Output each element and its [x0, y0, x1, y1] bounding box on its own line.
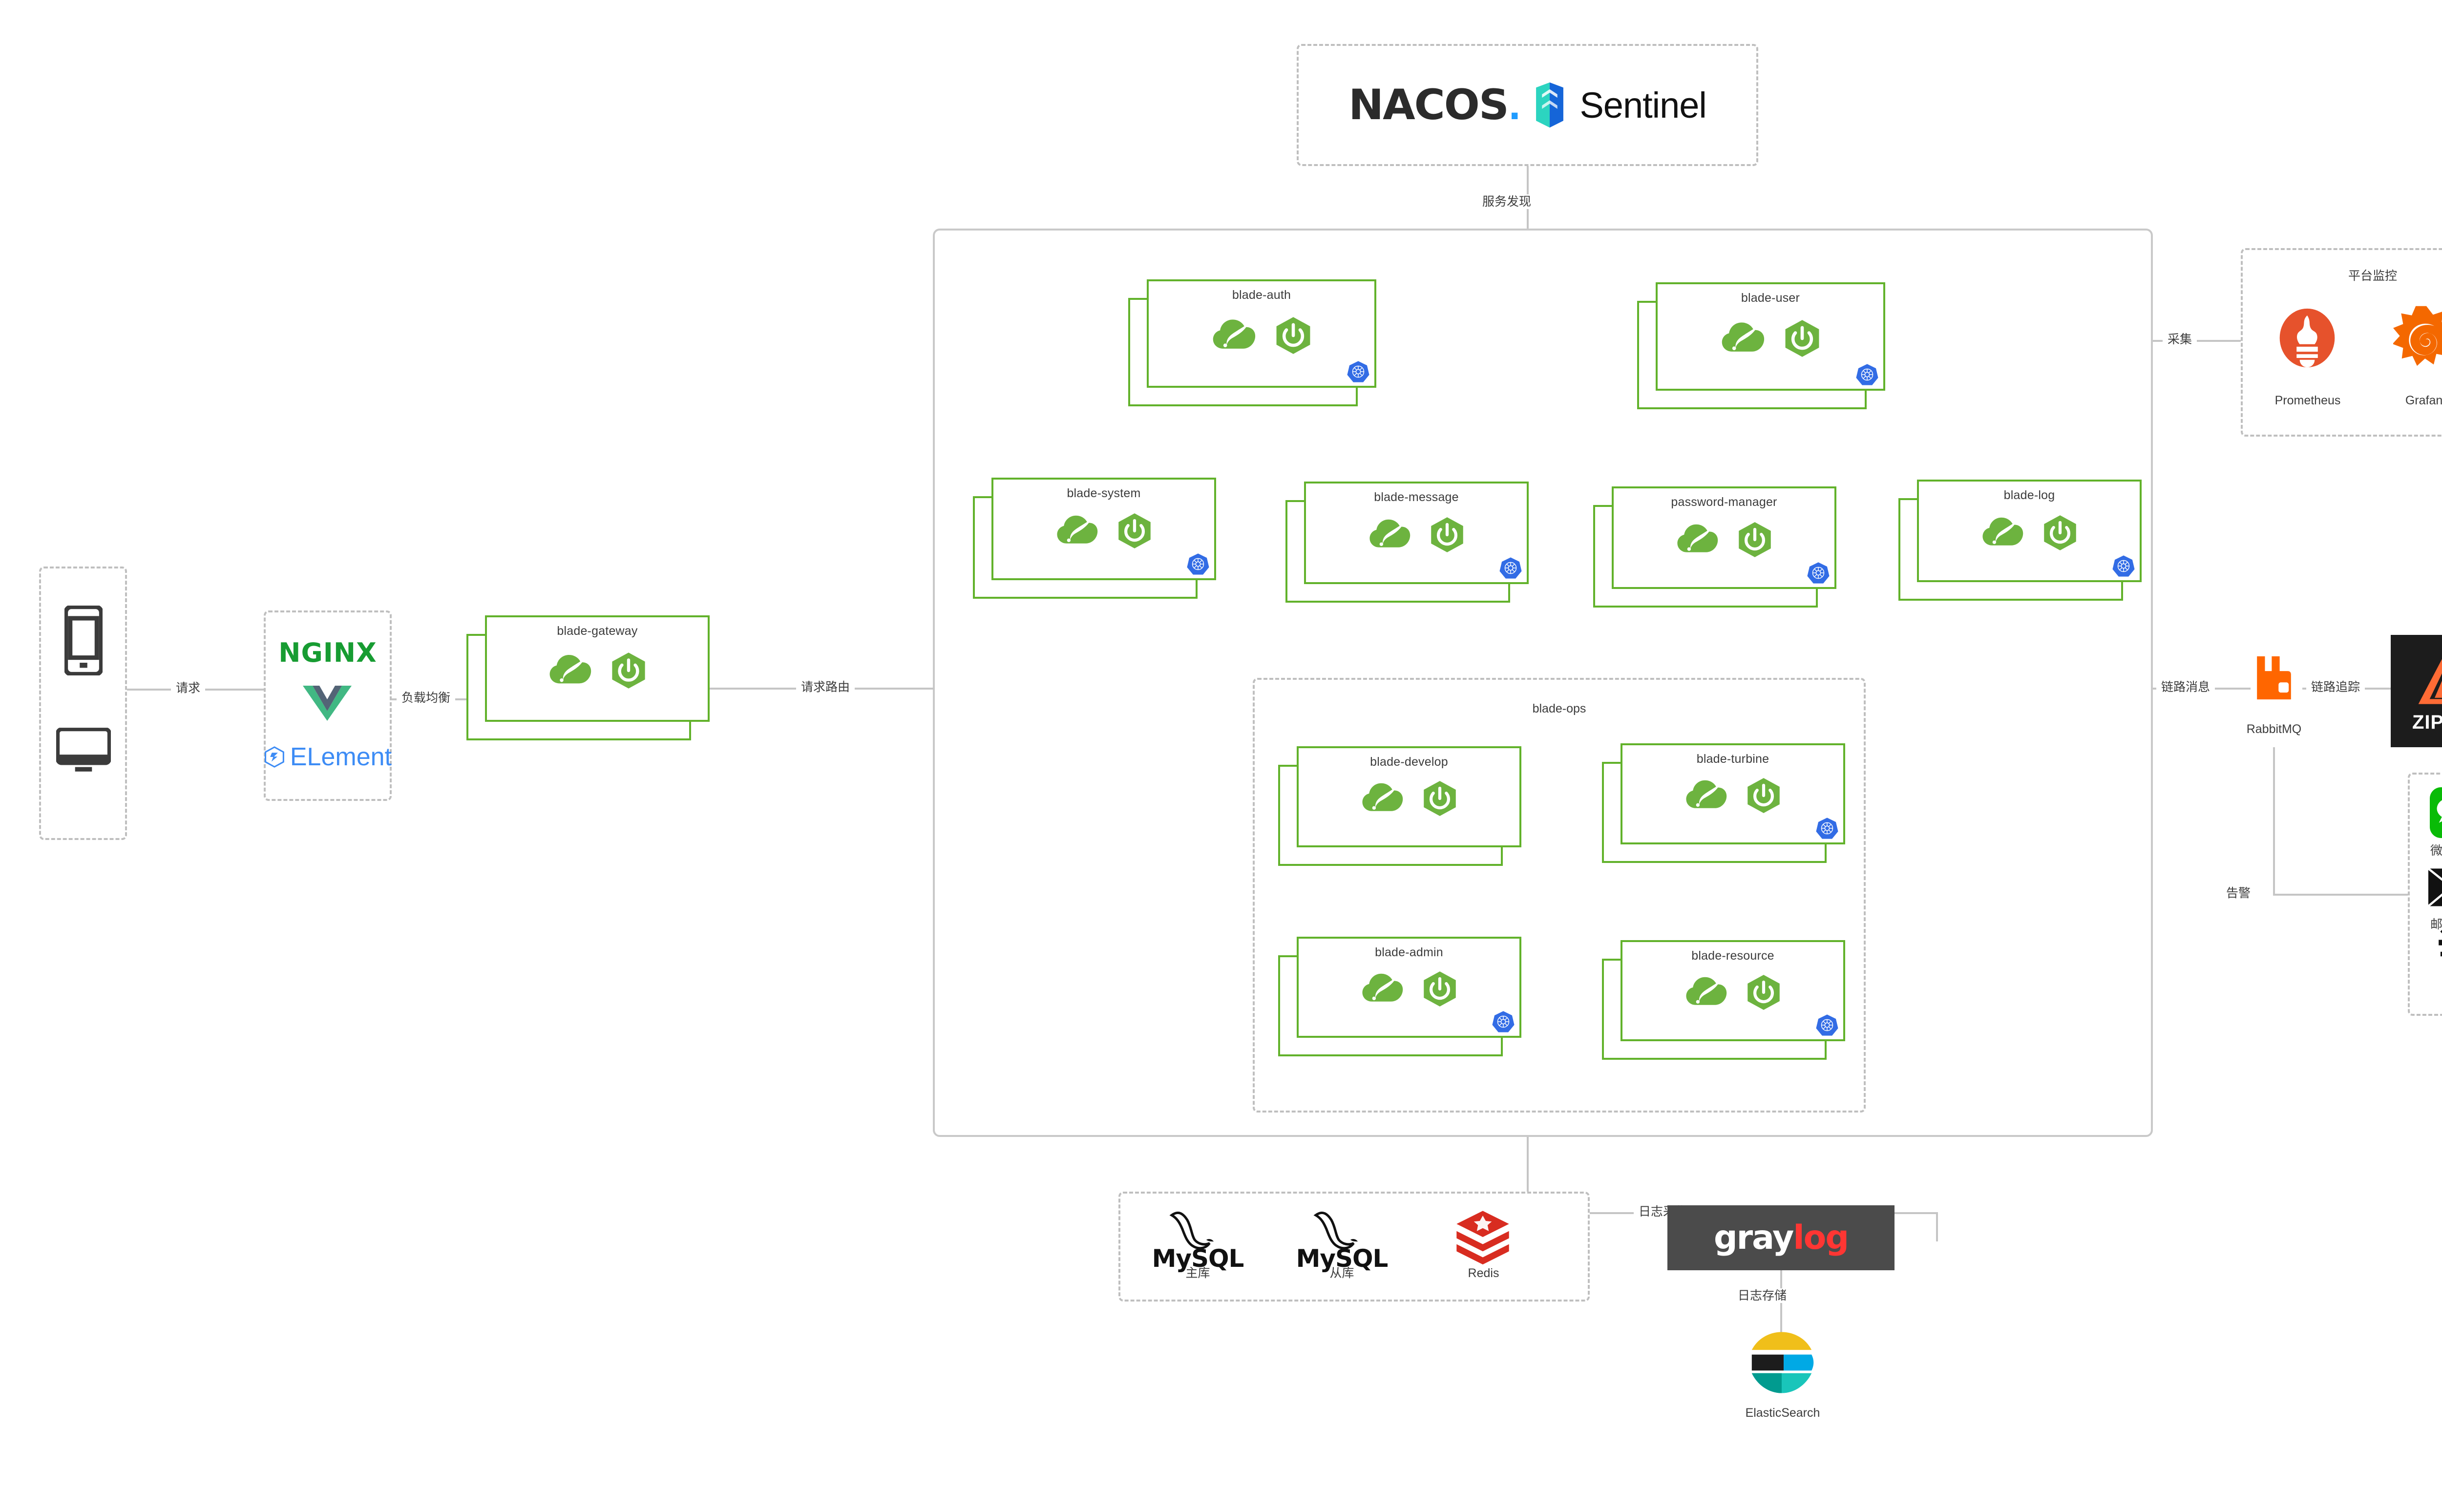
kubernetes-icon [2112, 555, 2135, 577]
service-card-blade-admin[interactable]: blade-admin [1297, 937, 1521, 1038]
spring-boot-hexagon-icon [1745, 777, 1783, 815]
service-card-blade-system[interactable]: blade-system [991, 478, 1216, 580]
element-ui-row: ELement [264, 742, 392, 772]
grafana-label: Grafana [2366, 393, 2442, 408]
service-card-password-manager[interactable]: password-manager [1612, 486, 1836, 589]
spring-cloud-leaf-icon [1674, 517, 1719, 562]
kubernetes-icon [1187, 553, 1209, 575]
mysql-master[interactable]: MySQL [1140, 1205, 1255, 1273]
spring-boot-hexagon-icon [1428, 516, 1466, 554]
spring-cloud-leaf-icon [1359, 776, 1404, 821]
nacos-label: NACOS [1348, 81, 1508, 129]
architecture-diagram-canvas: NACOS. Sentinel 服务发现 blade-auth blade-us… [0, 0, 2442, 1512]
card-front: blade-user [1656, 282, 1885, 391]
card-front: blade-develop [1297, 746, 1521, 847]
graylog-logo: graylog [1714, 1218, 1848, 1257]
edge-label-alarm: 告警 [2221, 886, 2255, 901]
spring-boot-hexagon-icon [2041, 514, 2079, 552]
card-front: blade-auth [1147, 279, 1376, 388]
prometheus-torch-icon [2276, 307, 2338, 369]
edge-label-link-trace: 链路追踪 [2306, 680, 2365, 694]
edge-label-log-storage: 日志存储 [1733, 1288, 1791, 1303]
spring-cloud-leaf-icon [1359, 966, 1404, 1011]
platform-monitoring-label: 平台监控 [2241, 266, 2442, 284]
card-front: password-manager [1612, 486, 1836, 589]
service-title: blade-resource [1622, 949, 1843, 963]
service-title: blade-auth [1149, 288, 1374, 302]
service-card-blade-turbine[interactable]: blade-turbine [1621, 743, 1845, 844]
card-front: blade-log [1917, 480, 2142, 582]
envelope-icon [2428, 868, 2442, 906]
spring-cloud-leaf-icon [1367, 512, 1411, 557]
edge-label-service-discovery: 服务发现 [1477, 194, 1536, 209]
kubernetes-icon [1816, 817, 1838, 840]
spring-cloud-leaf-icon [1210, 312, 1257, 359]
redis-label: Redis [1426, 1266, 1541, 1281]
service-icons [1299, 776, 1519, 821]
edge-label-load-balance: 负载均衡 [397, 691, 455, 705]
service-title: blade-log [1919, 488, 2140, 503]
element-label: ELement [290, 742, 392, 772]
elasticsearch-logo-icon [1748, 1329, 1815, 1396]
nginx-label: NGINX [264, 637, 392, 668]
service-title: blade-system [993, 486, 1214, 501]
desktop-monitor-icon [56, 728, 111, 773]
mysql-slave[interactable]: MySQL [1284, 1205, 1399, 1273]
service-icons [993, 508, 1214, 553]
service-icons [1622, 970, 1843, 1015]
rabbitmq-label: RabbitMQ [2217, 722, 2331, 736]
service-card-blade-resource[interactable]: blade-resource [1621, 940, 1845, 1041]
spring-boot-hexagon-icon [1736, 521, 1774, 559]
graylog-card[interactable]: graylog [1667, 1205, 1895, 1270]
wechat-bubbles-icon [2430, 787, 2442, 838]
mobile-phone-icon [64, 606, 103, 675]
spring-boot-hexagon-icon [1273, 315, 1313, 356]
nacos-logo: NACOS. [1348, 81, 1520, 129]
spring-boot-hexagon-icon [1782, 318, 1822, 358]
spring-cloud-leaf-icon [1054, 508, 1099, 553]
spring-cloud-leaf-icon [1719, 315, 1766, 362]
card-front: blade-resource [1621, 940, 1845, 1041]
service-title: blade-admin [1299, 945, 1519, 960]
service-icons [487, 648, 708, 693]
edge-label-request: 请求 [171, 681, 205, 695]
kubernetes-icon [1856, 363, 1878, 386]
kubernetes-icon [1499, 557, 1522, 579]
nacos-dot: . [1508, 87, 1520, 127]
service-title: blade-gateway [487, 624, 708, 638]
kubernetes-icon [1807, 562, 1830, 584]
service-card-blade-user[interactable]: blade-user [1656, 282, 1885, 391]
card-front: blade-system [991, 478, 1216, 580]
sentinel-shield-icon [1533, 82, 1567, 128]
spring-boot-hexagon-icon [609, 651, 648, 690]
mysql-master-label: 主库 [1140, 1266, 1255, 1281]
spring-boot-hexagon-icon [1421, 779, 1459, 818]
service-card-blade-auth[interactable]: blade-auth [1147, 279, 1376, 388]
zipkin-arrow-icon [2415, 649, 2442, 712]
mysql-slave-label: 从库 [1284, 1266, 1399, 1281]
edge-label-collect: 采集 [2163, 332, 2197, 347]
service-title: blade-turbine [1622, 752, 1843, 766]
service-icons [1149, 312, 1374, 359]
card-front: blade-message [1304, 482, 1529, 584]
kubernetes-icon [1492, 1010, 1515, 1033]
service-icons [1658, 315, 1883, 362]
spring-boot-hexagon-icon [1421, 970, 1459, 1008]
spring-cloud-leaf-icon [1683, 970, 1728, 1015]
service-card-blade-log[interactable]: blade-log [1917, 480, 2142, 582]
registry-group: NACOS. Sentinel [1297, 44, 1758, 166]
vue-logo-icon [303, 684, 352, 723]
connector-alarm-horizontal [2273, 894, 2410, 896]
element-ui-logo-icon [264, 744, 285, 770]
service-card-blade-develop[interactable]: blade-develop [1297, 746, 1521, 847]
service-icons [1306, 512, 1527, 557]
kubernetes-icon [1347, 360, 1369, 383]
card-front: blade-turbine [1621, 743, 1845, 844]
service-title: blade-message [1306, 490, 1527, 504]
service-card-blade-gateway[interactable]: blade-gateway [485, 615, 710, 722]
service-card-blade-message[interactable]: blade-message [1304, 482, 1529, 584]
zipkin-label: ZIPKIN [2412, 712, 2442, 734]
elasticsearch-label: ElasticSearch [1695, 1406, 1871, 1420]
kubernetes-icon [1816, 1014, 1838, 1036]
connector-graylog-drop [1936, 1212, 1938, 1241]
alarm-siren-icon [2432, 906, 2442, 965]
rabbitmq-rabbit-icon [2246, 650, 2302, 706]
card-front: blade-admin [1297, 937, 1521, 1038]
edge-label-request-route: 请求路由 [796, 680, 855, 694]
edge-label-link-message: 链路消息 [2156, 680, 2215, 694]
spring-cloud-leaf-icon [547, 648, 592, 693]
spring-boot-hexagon-icon [1745, 973, 1783, 1011]
service-icons [1299, 966, 1519, 1011]
grafana-spiral-icon [2393, 305, 2442, 371]
spring-cloud-leaf-icon [1979, 510, 2024, 555]
service-title: blade-develop [1299, 755, 1519, 769]
zipkin-card[interactable]: ZIPKIN [2391, 635, 2442, 747]
card-front: blade-gateway [485, 615, 710, 722]
connector-alarm-vertical [2273, 747, 2275, 894]
service-icons [1919, 510, 2140, 555]
spring-boot-hexagon-icon [1116, 512, 1154, 550]
blade-ops-group-label: blade-ops [1253, 702, 1866, 716]
redis-stack-icon [1453, 1207, 1513, 1267]
graylog-gray-label: gray [1714, 1218, 1793, 1257]
spring-cloud-leaf-icon [1683, 773, 1728, 818]
service-title: blade-user [1658, 291, 1883, 305]
service-icons [1614, 517, 1834, 562]
registry-logos: NACOS. Sentinel [1299, 81, 1756, 129]
service-icons [1622, 773, 1843, 818]
wechat-push-label: 微信推送 [2408, 843, 2442, 858]
prometheus-label: Prometheus [2247, 393, 2369, 408]
service-title: password-manager [1614, 495, 1834, 509]
graylog-log-label: log [1793, 1218, 1848, 1257]
sentinel-label: Sentinel [1579, 84, 1706, 126]
